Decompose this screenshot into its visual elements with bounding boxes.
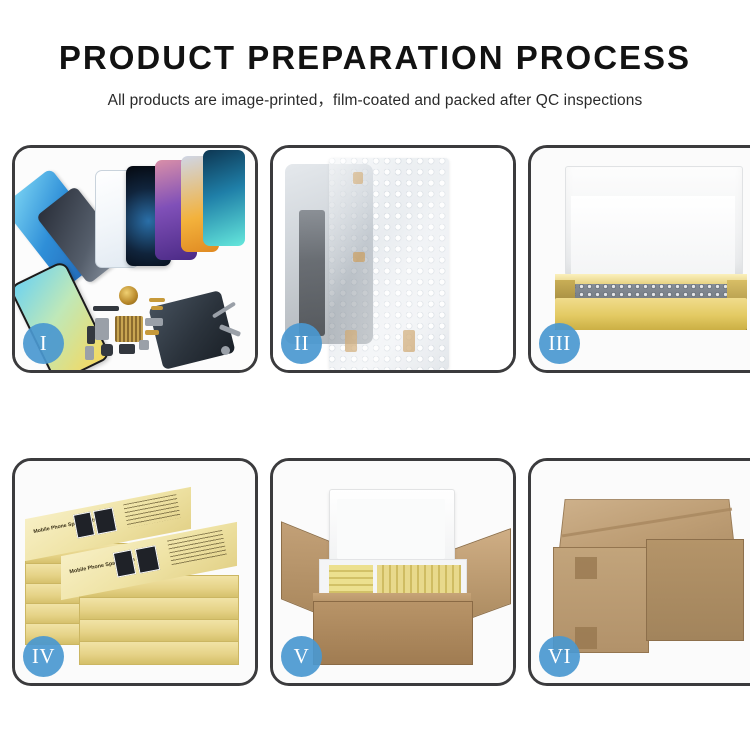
part-logic-board: [115, 316, 143, 342]
product-preparation-infographic: PRODUCT PREPARATION PROCESS All products…: [0, 0, 750, 750]
step-badge-6: VI: [539, 636, 580, 677]
step-1-illustration: I: [15, 148, 255, 370]
stacked-box-r3: [79, 619, 239, 643]
part-battery-cell: [101, 344, 113, 356]
step-badge-2: II: [281, 323, 322, 364]
box-front-panel: [555, 298, 747, 330]
part-gold-flex-1: [149, 298, 165, 302]
step-badge-3: III: [539, 323, 580, 364]
part-antenna-strip: [145, 318, 163, 326]
step-panel-4: Mobile Phone Spare Parts Mobile Phone Sp…: [12, 458, 258, 686]
stacked-box-r2: [79, 597, 239, 621]
part-speaker: [93, 306, 119, 311]
carton-right-face: [646, 539, 744, 641]
carton-tape-upper: [575, 557, 597, 579]
step-panel-2: II: [270, 145, 516, 373]
process-step-grid: I II: [12, 145, 738, 686]
carton-tape-lower: [575, 627, 597, 649]
step-3-illustration: III: [531, 148, 750, 370]
step-2-illustration: II: [273, 148, 513, 370]
step-badge-1: I: [23, 323, 64, 364]
step-4-illustration: Mobile Phone Spare Parts Mobile Phone Sp…: [15, 461, 255, 683]
box-artwork-front-2: [135, 545, 160, 574]
page-title: PRODUCT PREPARATION PROCESS: [0, 40, 750, 76]
part-small-screw: [221, 346, 230, 355]
phone-display-teal: [203, 150, 245, 246]
carton-front-panel: [313, 601, 473, 665]
page-subtitle: All products are image-printed，film-coat…: [0, 88, 750, 110]
step-badge-4: IV: [23, 636, 64, 677]
step-panel-3: III: [528, 145, 750, 373]
part-bracket-1: [95, 318, 109, 340]
step-panel-6: VI: [528, 458, 750, 686]
step-6-illustration: VI: [531, 461, 750, 683]
part-connector: [145, 330, 159, 335]
stacked-box-r4: [79, 641, 239, 665]
header: PRODUCT PREPARATION PROCESS All products…: [0, 0, 750, 110]
step-badge-5: V: [281, 636, 322, 677]
step-panel-1: I: [12, 145, 258, 373]
part-camera-lens: [119, 286, 138, 305]
box-rim: [555, 274, 747, 284]
part-screw-set: [139, 340, 149, 350]
part-bracket-2: [87, 326, 95, 344]
part-sim-tray: [85, 346, 94, 360]
foam-lid-inner: [337, 499, 445, 559]
part-taptic-engine: [119, 344, 135, 354]
step-5-illustration: V: [273, 461, 513, 683]
step-panel-5: V: [270, 458, 516, 686]
part-gold-flex-2: [151, 306, 163, 310]
foam-pad: [571, 196, 735, 274]
screen-assembly: [299, 210, 325, 336]
box-artwork-back-2: [93, 507, 117, 534]
